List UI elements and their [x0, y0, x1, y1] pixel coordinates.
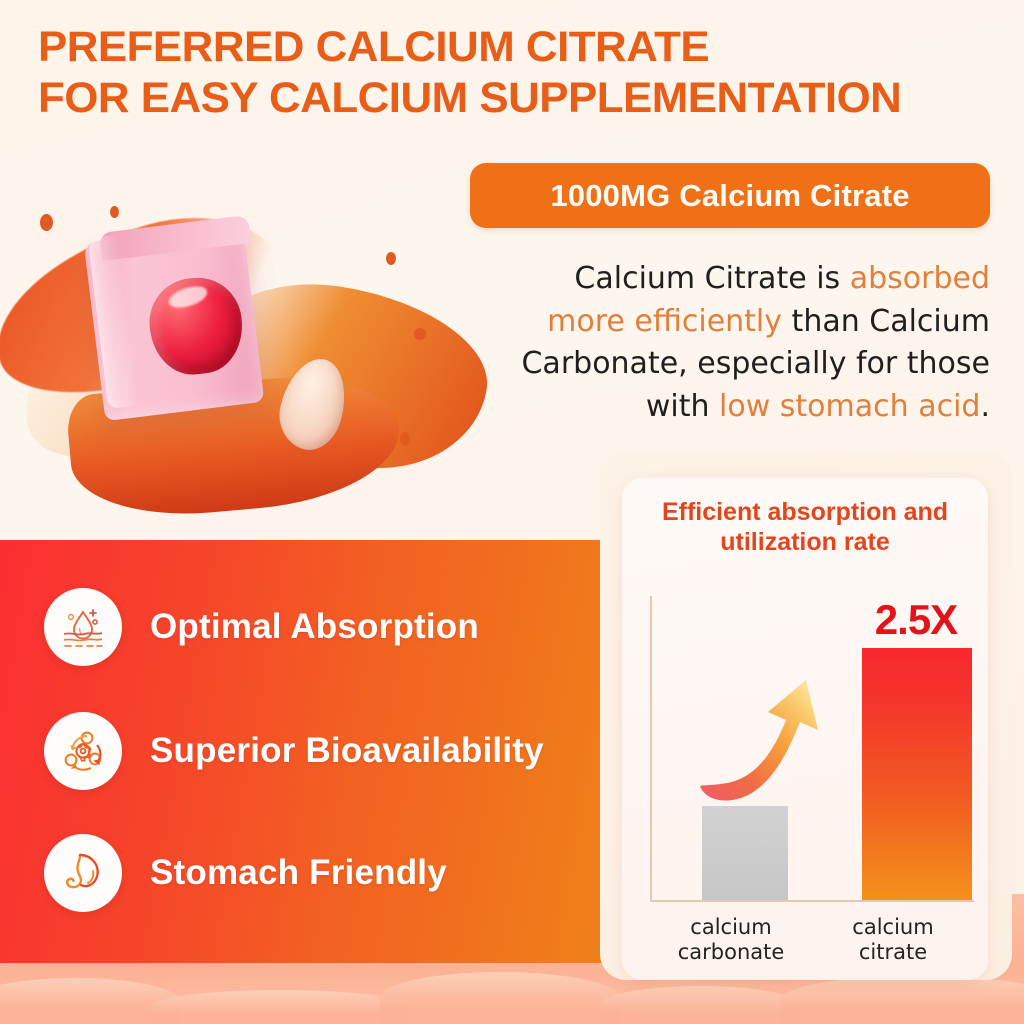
bar-calcium-carbonate [702, 806, 788, 900]
product-image [0, 196, 462, 526]
feature-icon-badge [44, 712, 122, 790]
chart-x-labels: calcium carbonate calcium citrate [650, 915, 974, 966]
feature-item-optimal-absorption: Optimal Absorption [44, 588, 479, 666]
growth-arrow-icon [696, 674, 844, 806]
page-title: PREFERRED CALCIUM CITRATE FOR EASY CALCI… [38, 22, 1017, 123]
splash-droplet [414, 328, 426, 340]
wave-crest [600, 986, 800, 1024]
feature-icon-badge [44, 834, 122, 912]
bar-chart-plot: 2.5X [650, 596, 974, 902]
splash-droplet [110, 206, 119, 218]
x-label-line-1: calcium [656, 915, 806, 941]
x-label-calcium-carbonate: calcium carbonate [656, 915, 806, 966]
x-axis [650, 900, 974, 902]
headline-line-1: PREFERRED CALCIUM CITRATE [38, 22, 1017, 73]
description-part-3: . [980, 389, 990, 424]
dosage-badge-label: 1000MG Calcium Citrate [550, 178, 909, 214]
dosage-badge: 1000MG Calcium Citrate [470, 163, 990, 228]
splash-droplet [386, 252, 396, 265]
chart-title: Efficient absorption and utilization rat… [622, 498, 988, 557]
chart-card: Efficient absorption and utilization rat… [622, 478, 988, 980]
x-label-line-2: citrate [818, 940, 968, 966]
feature-icon-badge [44, 588, 122, 666]
x-label-line-2: carbonate [656, 940, 806, 966]
feature-item-stomach-friendly: Stomach Friendly [44, 834, 447, 912]
feature-label: Optimal Absorption [150, 607, 479, 647]
description-part-1: Calcium Citrate is [574, 261, 849, 296]
feature-label: Stomach Friendly [150, 853, 447, 893]
gear-cycle-icon [57, 725, 109, 777]
y-axis [650, 596, 652, 902]
x-label-line-1: calcium [818, 915, 968, 941]
headline-line-2: FOR EASY CALCIUM SUPPLEMENTATION [38, 73, 1017, 124]
wave-crest [380, 972, 620, 1024]
stomach-icon [57, 847, 109, 899]
feature-label: Superior Bioavailability [150, 731, 544, 771]
infographic-canvas: PREFERRED CALCIUM CITRATE FOR EASY CALCI… [0, 0, 1024, 1024]
x-label-calcium-citrate: calcium citrate [818, 915, 968, 966]
bar-value-label: 2.5X [846, 596, 986, 644]
description-highlight-2: low stomach acid [719, 389, 980, 424]
splash-droplet [400, 432, 410, 446]
droplet-absorption-icon [57, 601, 109, 653]
chart-title-line-1: Efficient absorption and [636, 498, 974, 528]
wave-crest [780, 976, 1024, 1024]
feature-item-superior-bioavailability: Superior Bioavailability [44, 712, 544, 790]
chart-title-line-2: utilization rate [636, 528, 974, 558]
wave-crest [150, 990, 410, 1024]
splash-droplet [40, 214, 53, 231]
feature-panel: Optimal Absorption [0, 540, 625, 963]
bar-calcium-citrate [862, 648, 972, 900]
description-paragraph: Calcium Citrate is absorbed more efficie… [498, 258, 990, 428]
